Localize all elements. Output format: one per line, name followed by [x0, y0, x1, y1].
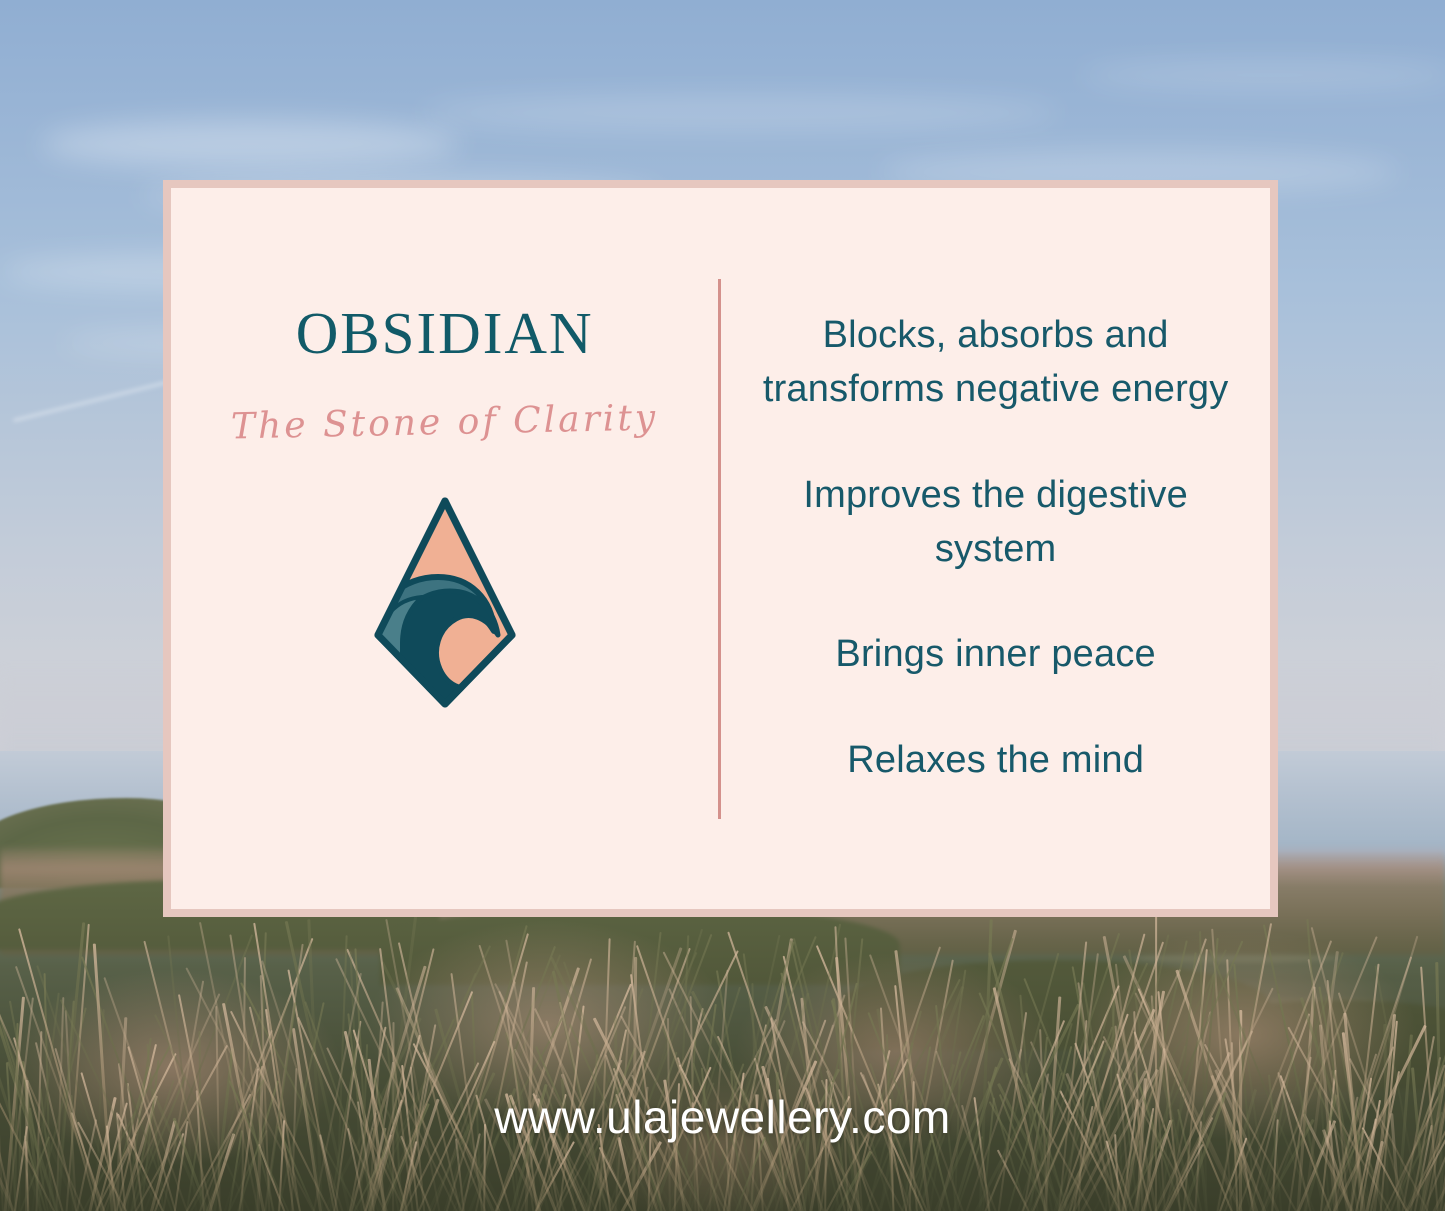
list-item: Blocks, absorbs and transforms negative … [761, 309, 1231, 417]
page-title: Obsidian [296, 284, 594, 368]
cloud-wisp [40, 120, 460, 168]
website-url[interactable]: www.ulajewellery.com [0, 1090, 1445, 1144]
kite-wave-logo [370, 495, 520, 710]
subtitle-tagline: The Stone of Clarity [231, 398, 659, 448]
cloud-wisp [420, 95, 1060, 131]
grass-blade [1155, 913, 1157, 1211]
benefits-list: Blocks, absorbs and transforms negative … [721, 188, 1270, 909]
list-item: Improves the digestive system [761, 469, 1231, 577]
info-card: Obsidian The Stone of Clarity [163, 180, 1278, 917]
grass-blades [0, 871, 1445, 1211]
cloud-wisp [1080, 60, 1445, 90]
poster-canvas: Obsidian The Stone of Clarity [0, 0, 1445, 1211]
list-item: Brings inner peace [835, 628, 1155, 682]
card-left-column: Obsidian The Stone of Clarity [171, 188, 718, 909]
list-item: Relaxes the mind [847, 734, 1144, 788]
